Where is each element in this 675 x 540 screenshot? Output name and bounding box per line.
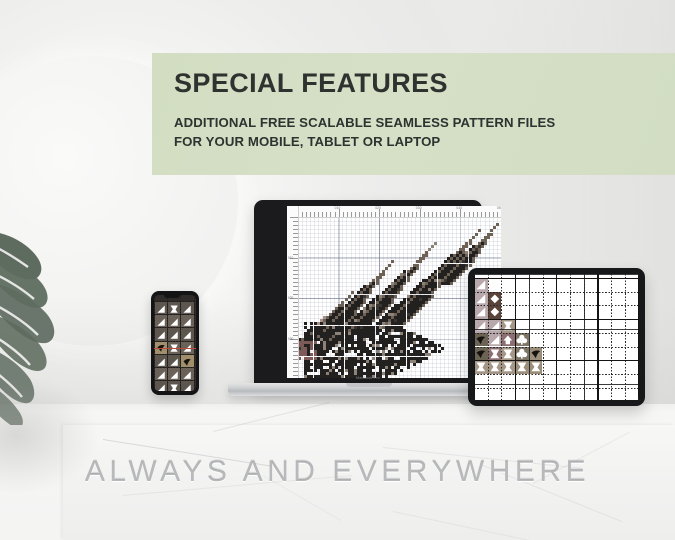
ruler-tick <box>310 212 311 217</box>
stitch-cell <box>428 248 431 251</box>
stitch-cell <box>323 316 326 319</box>
laptop-device: 010020030040050060 010020030 MacBook Pro <box>228 200 508 398</box>
stitch-cell <box>329 335 332 338</box>
grid-major-v <box>597 274 598 400</box>
phone-grid-dash-v <box>167 295 168 391</box>
stitch-cell <box>369 291 372 294</box>
special-features-banner: SPECIAL FEATURES ADDITIONAL FREE SCALABL… <box>152 53 675 175</box>
stitch-cell <box>450 282 453 285</box>
triangle-icon <box>155 329 167 341</box>
stitch-cell <box>348 350 351 353</box>
pattern-cell-triangle[interactable] <box>155 302 167 314</box>
ruler-tick <box>339 209 340 217</box>
stitch-cell <box>469 264 472 267</box>
ruler-label-h: 050 <box>497 206 501 210</box>
ruler-tick <box>436 212 437 217</box>
ruler-tick <box>448 212 449 217</box>
monstera-plant <box>0 225 75 425</box>
stitch-cell <box>400 288 403 291</box>
ruler-tick <box>497 212 498 217</box>
ruler-tick <box>485 212 486 217</box>
stitch-cell <box>419 307 422 310</box>
pattern-cell-bird[interactable] <box>181 355 193 367</box>
stitch-cell <box>425 301 428 304</box>
tablet-screen[interactable] <box>474 274 639 400</box>
ruler-tick <box>293 319 298 320</box>
ruler-tick <box>293 254 298 255</box>
stitch-cell <box>385 267 388 270</box>
stitch-cell <box>465 267 468 270</box>
triangle-icon <box>168 329 180 341</box>
stitch-cell <box>431 245 434 248</box>
ruler-tick <box>424 212 425 217</box>
pattern-cell-triangle[interactable] <box>181 302 193 314</box>
ruler-tick <box>375 212 376 217</box>
stitch-cell <box>366 295 369 298</box>
ruler-tick <box>293 306 298 307</box>
phone-grid-dash-h <box>154 341 196 342</box>
stitch-cell <box>434 285 437 288</box>
grid-major-v <box>556 274 557 400</box>
ruler-tick <box>293 347 298 348</box>
ruler-tick <box>330 212 331 217</box>
grid-major-v <box>638 274 639 400</box>
stitch-cell <box>478 229 481 232</box>
banner-subtitle-line-2: FOR YOUR MOBILE, TABLET OR LAPTOP <box>174 132 659 151</box>
triangle-icon <box>155 382 167 391</box>
ruler-tick <box>416 212 417 217</box>
ruler-tick <box>293 294 298 295</box>
stitch-cell <box>438 285 441 288</box>
stitch-cell <box>434 288 437 291</box>
ruler-tick <box>293 286 298 287</box>
ruler-tick <box>293 262 298 263</box>
ruler-tick <box>293 245 298 246</box>
ruler-tick <box>408 212 409 217</box>
phone-grid-dash-h <box>154 354 196 355</box>
ruler-tick <box>318 212 319 217</box>
pattern-cell-triangle[interactable] <box>168 315 180 327</box>
stitch-cell <box>484 242 487 245</box>
stitch-cell <box>376 282 379 285</box>
stitch-cell <box>441 347 444 350</box>
stitch-cell <box>314 341 317 344</box>
page-title: SPECIAL FEATURES <box>174 69 659 97</box>
ruler-tick <box>335 212 336 217</box>
grid-dash-v <box>529 274 530 400</box>
pattern-cell-triangle[interactable] <box>155 368 167 380</box>
stitch-cell <box>416 267 419 270</box>
pattern-cell-triangle[interactable] <box>155 328 167 340</box>
ruler-tick <box>293 331 298 332</box>
ruler-tick <box>440 212 441 217</box>
phone-grid-dash-v <box>154 295 155 391</box>
stitch-cell <box>388 264 391 267</box>
stitch-cell <box>372 285 375 288</box>
stitch-cell <box>496 223 499 226</box>
grid-dash-v <box>488 274 489 400</box>
ruler-label-h: 040 <box>456 206 462 210</box>
ruler-tick <box>293 249 298 250</box>
phone-grid-dash-v <box>180 295 181 391</box>
ruler-tick <box>293 367 298 368</box>
ruler-tick <box>293 233 298 234</box>
stitch-cell <box>438 350 441 353</box>
phone-device <box>151 291 199 395</box>
triangle-icon <box>181 369 193 381</box>
stitch-cell <box>493 226 496 229</box>
ruler-tick <box>359 212 360 217</box>
ruler-tick <box>489 212 490 217</box>
phone-grid-dash-h <box>154 327 196 328</box>
tablet-device <box>468 268 645 406</box>
stitch-cell <box>475 233 478 236</box>
phone-screen[interactable] <box>154 295 196 391</box>
ruler-tick <box>293 371 298 372</box>
stitch-cell <box>314 369 317 372</box>
ruler-tick <box>452 212 453 217</box>
stitch-cell <box>407 319 410 322</box>
banner-subtitle: ADDITIONAL FREE SCALABLE SEAMLESS PATTER… <box>174 113 659 151</box>
stitch-cell <box>453 279 456 282</box>
ruler-tick <box>326 212 327 217</box>
ruler-tick <box>302 212 303 217</box>
ruler-tick <box>314 212 315 217</box>
arrow-icon <box>168 303 180 315</box>
ruler-tick <box>293 237 298 238</box>
ruler-tick <box>387 212 388 217</box>
pattern-cell-triangle[interactable] <box>168 328 180 340</box>
triangle-icon <box>168 316 180 328</box>
banner-subtitle-line-1: ADDITIONAL FREE SCALABLE SEAMLESS PATTER… <box>174 113 659 132</box>
stitch-cell <box>413 270 416 273</box>
grid-dash-v <box>543 274 544 400</box>
ruler-tick <box>293 310 298 311</box>
stitch-cell <box>379 326 382 329</box>
triangle-icon <box>155 356 167 368</box>
bird-icon <box>181 356 193 368</box>
stitch-cell <box>419 360 422 363</box>
stitch-cell <box>410 316 413 319</box>
ruler-tick <box>481 212 482 217</box>
pattern-cell-triangle[interactable] <box>155 381 167 391</box>
ruler-tick <box>293 351 298 352</box>
ruler-label-h: 030 <box>416 206 422 210</box>
plant-shadow <box>0 375 100 495</box>
ruler-tick <box>293 225 298 226</box>
ruler-tick <box>306 212 307 217</box>
stitch-cell <box>456 276 459 279</box>
stitch-cell <box>462 270 465 273</box>
grid-major-h <box>474 360 639 361</box>
stitch-cell <box>428 298 431 301</box>
phone-guide-line <box>154 348 196 349</box>
ruler-tick <box>460 209 461 217</box>
stitch-cell <box>391 260 394 263</box>
ruler-label-h: 010 <box>335 206 341 210</box>
ruler-tick <box>347 212 348 217</box>
stitch-cell <box>490 233 493 236</box>
stitch-cell <box>379 276 382 279</box>
ruler-tick <box>367 212 368 217</box>
phone-grid-dash-v <box>194 295 195 391</box>
grid-dash-v <box>611 274 612 400</box>
ruler-tick <box>293 359 298 360</box>
ruler-tick <box>371 212 372 217</box>
stitch-cell <box>425 254 428 257</box>
pattern-cell-triangle[interactable] <box>181 381 193 391</box>
stitch-cell <box>487 236 490 239</box>
ruler-label-v: 010 <box>288 256 293 260</box>
stitch-cell <box>472 260 475 263</box>
stitch-cell <box>425 357 428 360</box>
stitch-cell <box>410 273 413 276</box>
stitch-cell <box>478 251 481 254</box>
stitch-cell <box>422 304 425 307</box>
laptop-brand-label: MacBook Pro <box>228 376 508 380</box>
stitch-cell <box>403 282 406 285</box>
stitch-cell <box>400 369 403 372</box>
ruler-tick <box>293 323 298 324</box>
ruler-tick <box>322 212 323 217</box>
stitch-cell <box>413 363 416 366</box>
stitch-cell <box>416 310 419 313</box>
stitch-cell <box>481 245 484 248</box>
ruler-tick <box>343 212 344 217</box>
ruler-tick <box>293 241 298 242</box>
ruler-tick <box>293 314 298 315</box>
pattern-cell-triangle[interactable] <box>181 315 193 327</box>
ruler-tick <box>432 212 433 217</box>
ruler-tick <box>293 327 298 328</box>
ruler-tick <box>293 335 298 336</box>
ruler-tick <box>379 209 380 217</box>
ruler-label-v: 020 <box>288 296 293 300</box>
stitch-cell <box>431 295 434 298</box>
ruler-label-v: 030 <box>288 337 293 341</box>
ruler-tick <box>293 363 298 364</box>
triangle-icon <box>155 369 167 381</box>
pattern-cell-triangle[interactable] <box>155 315 167 327</box>
phone-grid-dash-h <box>154 380 196 381</box>
grid-dash-v <box>584 274 585 400</box>
ruler-tick <box>293 270 298 271</box>
ruler-vertical[interactable]: 010020030 <box>287 206 299 378</box>
grid-major-v <box>474 274 475 400</box>
grid-dash-v <box>625 274 626 400</box>
triangle-icon <box>155 303 167 315</box>
stitch-cell <box>431 285 434 288</box>
engraved-headline: ALWAYS AND EVERYWHERE <box>0 455 675 489</box>
triangle-icon <box>155 316 167 328</box>
laptop-base-notch <box>346 383 392 387</box>
triangle-icon <box>181 303 193 315</box>
triangle-icon <box>168 356 180 368</box>
phone-notch <box>164 295 180 298</box>
ruler-tick <box>293 282 298 283</box>
ruler-tick <box>351 212 352 217</box>
ruler-tick <box>473 212 474 217</box>
pattern-cell-triangle[interactable] <box>168 368 180 380</box>
ruler-tick <box>290 217 298 218</box>
phone-grid-dash-h <box>154 301 196 302</box>
stitch-cell <box>425 288 428 291</box>
ruler-tick <box>444 212 445 217</box>
stitch-cell <box>314 357 317 360</box>
ruler-tick <box>428 212 429 217</box>
ruler-tick <box>293 221 298 222</box>
grid-major-v <box>515 274 516 400</box>
ruler-tick <box>363 212 364 217</box>
stitch-cell <box>382 273 385 276</box>
ruler-tick <box>420 209 421 217</box>
phone-grid-dash-h <box>154 314 196 315</box>
triangle-icon <box>181 382 193 391</box>
ruler-tick <box>355 212 356 217</box>
grid-dash-v <box>501 274 502 400</box>
pattern-cell-triangle[interactable] <box>168 355 180 367</box>
ruler-tick <box>412 212 413 217</box>
ruler-tick <box>395 212 396 217</box>
ruler-tick <box>404 212 405 217</box>
ruler-tick <box>293 229 298 230</box>
stitch-cell <box>372 366 375 369</box>
pattern-cell-blob[interactable] <box>168 302 180 314</box>
stitch-cell <box>419 260 422 263</box>
stitch-cell <box>326 350 329 353</box>
stitch-cell <box>403 322 406 325</box>
ruler-tick <box>493 212 494 217</box>
stitch-cell <box>397 291 400 294</box>
stitch-cell <box>394 295 397 298</box>
pattern-cell-triangle[interactable] <box>155 355 167 367</box>
stitch-cell <box>394 372 397 375</box>
stitch-cell <box>475 254 478 257</box>
ruler-label-h: 020 <box>375 206 381 210</box>
ruler-tick <box>293 278 298 279</box>
stitch-cell <box>438 282 441 285</box>
ruler-tick <box>293 266 298 267</box>
ruler-tick <box>464 212 465 217</box>
triangle-icon <box>181 329 193 341</box>
ruler-horizontal[interactable]: 010020030040050060 <box>287 206 501 218</box>
triangle-icon <box>181 316 193 328</box>
stitch-cell <box>323 326 326 329</box>
ruler-tick <box>383 212 384 217</box>
pattern-cell-blob[interactable] <box>168 381 180 391</box>
phone-grid-dash-h <box>154 367 196 368</box>
pattern-cell-triangle[interactable] <box>181 328 193 340</box>
stitch-cell <box>459 273 462 276</box>
stitch-cell <box>407 366 410 369</box>
poster-stage: ALWAYS AND EVERYWHERE SPECIAL FEATURES A… <box>0 0 675 540</box>
triangle-icon <box>168 369 180 381</box>
ruler-tick <box>456 212 457 217</box>
ruler-tick <box>469 212 470 217</box>
ruler-tick <box>391 212 392 217</box>
stitch-cell <box>472 236 475 239</box>
grid-major-h <box>474 319 639 320</box>
grid-major-h <box>474 278 639 279</box>
ruler-tick <box>400 212 401 217</box>
stitch-cell <box>422 257 425 260</box>
ruler-tick <box>293 343 298 344</box>
ruler-tick <box>293 355 298 356</box>
pattern-cell-triangle[interactable] <box>181 368 193 380</box>
ruler-tick <box>477 212 478 217</box>
stitch-cell <box>407 279 410 282</box>
stitch-cell <box>434 242 437 245</box>
laptop-lid: 010020030040050060 010020030 <box>254 200 482 388</box>
grid-dash-v <box>570 274 571 400</box>
stitch-cell <box>428 288 431 291</box>
ruler-tick <box>293 274 298 275</box>
ruler-tick <box>293 290 298 291</box>
arrow-icon <box>168 382 180 391</box>
ruler-tick <box>293 302 298 303</box>
stitch-cell <box>428 353 431 356</box>
stitch-cell <box>413 313 416 316</box>
